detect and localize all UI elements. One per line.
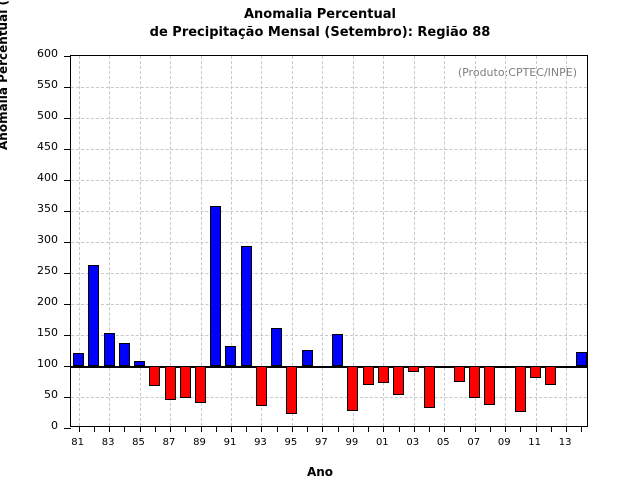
bar-negative — [454, 366, 465, 382]
x-axis-tick — [520, 426, 521, 432]
bar-negative — [393, 366, 404, 395]
gridline-vertical — [231, 56, 232, 426]
bar-positive — [88, 265, 99, 366]
bar-negative — [378, 366, 389, 383]
bar-negative — [408, 366, 419, 372]
x-axis-tick — [490, 426, 491, 432]
x-axis-tick — [246, 426, 247, 432]
bar-positive — [576, 352, 587, 366]
y-axis-tick-label: 50 — [18, 388, 58, 401]
bar-negative — [256, 366, 267, 406]
plot-area: (Produto:CPTEC/INPE) — [70, 55, 588, 427]
gridline-vertical — [566, 56, 567, 426]
bar-negative — [363, 366, 374, 385]
y-axis-tick — [64, 56, 71, 57]
x-axis-tick — [277, 426, 278, 432]
y-axis-tick-label: 200 — [18, 295, 58, 308]
y-axis-title: Anomalia Percentual (%) — [0, 0, 10, 150]
bar-negative — [165, 366, 176, 400]
gridline-vertical — [140, 56, 141, 426]
y-axis-tick-label: 150 — [18, 326, 58, 339]
gridline-vertical — [322, 56, 323, 426]
x-axis-tick-label: 09 — [489, 437, 519, 448]
x-axis-tick-label: 87 — [154, 437, 184, 448]
bar-negative — [515, 366, 526, 412]
chart-title-line1: Anomalia Percentual — [0, 6, 640, 24]
bar-positive — [210, 206, 221, 366]
x-axis-title: Ano — [0, 465, 640, 479]
gridline-horizontal — [71, 335, 587, 336]
x-axis-tick — [353, 426, 354, 432]
bar-positive — [241, 246, 252, 366]
bar-negative — [424, 366, 435, 408]
x-axis-tick — [94, 426, 95, 432]
y-axis-tick-label: 100 — [18, 357, 58, 370]
gridline-vertical — [505, 56, 506, 426]
x-axis-tick — [429, 426, 430, 432]
y-axis-tick — [64, 180, 71, 181]
bar-negative — [317, 366, 328, 368]
x-axis-tick — [140, 426, 141, 432]
x-axis-tick — [231, 426, 232, 432]
y-axis-tick-label: 0 — [18, 419, 58, 432]
chart-figure: Anomalia Percentual de Precipitação Mens… — [0, 0, 640, 500]
y-axis-tick-label: 450 — [18, 140, 58, 153]
bar-negative — [149, 366, 160, 386]
x-axis-tick-label: 89 — [185, 437, 215, 448]
y-axis-tick-label: 500 — [18, 109, 58, 122]
y-axis-tick-label: 350 — [18, 202, 58, 215]
bar-positive — [73, 353, 84, 366]
x-axis-tick — [307, 426, 308, 432]
bar-negative — [195, 366, 206, 403]
x-axis-tick — [261, 426, 262, 432]
bar-negative — [484, 366, 495, 405]
bar-positive — [134, 361, 145, 366]
gridline-horizontal — [71, 397, 587, 398]
y-axis-tick — [64, 118, 71, 119]
x-axis-tick — [414, 426, 415, 432]
y-axis-tick — [64, 428, 71, 429]
x-axis-tick-label: 07 — [459, 437, 489, 448]
x-axis-tick-label: 81 — [63, 437, 93, 448]
x-axis-tick-label: 83 — [93, 437, 123, 448]
y-axis-tick-label: 600 — [18, 47, 58, 60]
bar-negative — [500, 366, 511, 368]
y-axis-tick — [64, 335, 71, 336]
gridline-horizontal — [71, 242, 587, 243]
y-axis-tick — [64, 211, 71, 212]
y-axis-tick — [64, 149, 71, 150]
x-axis-tick-label: 97 — [306, 437, 336, 448]
bar-positive — [271, 328, 282, 366]
x-axis-tick — [292, 426, 293, 432]
x-axis-tick — [170, 426, 171, 432]
x-axis-tick — [368, 426, 369, 432]
x-axis-tick-label: 05 — [428, 437, 458, 448]
x-axis-tick-label: 01 — [367, 437, 397, 448]
bar-positive — [104, 333, 115, 366]
x-axis-tick — [399, 426, 400, 432]
gridline-vertical — [444, 56, 445, 426]
x-axis-tick-label: 91 — [215, 437, 245, 448]
bar-positive — [119, 343, 130, 366]
y-axis-tick — [64, 366, 71, 367]
bar-negative — [180, 366, 191, 398]
gridline-horizontal — [71, 180, 587, 181]
y-axis-tick — [64, 397, 71, 398]
y-axis-tick-label: 250 — [18, 264, 58, 277]
y-axis-tick-label: 400 — [18, 171, 58, 184]
x-axis-tick — [581, 426, 582, 432]
x-axis-tick-label: 11 — [520, 437, 550, 448]
y-axis-tick — [64, 242, 71, 243]
y-axis-tick-label: 300 — [18, 233, 58, 246]
x-axis-tick — [383, 426, 384, 432]
x-axis-tick — [155, 426, 156, 432]
gridline-horizontal — [71, 211, 587, 212]
x-axis-tick — [566, 426, 567, 432]
bar-positive — [332, 334, 343, 366]
y-axis-tick — [64, 304, 71, 305]
bar-negative — [347, 366, 358, 411]
y-axis-tick — [64, 87, 71, 88]
gridline-vertical — [79, 56, 80, 426]
y-axis-tick — [64, 273, 71, 274]
x-axis-tick-label: 99 — [337, 437, 367, 448]
gridline-horizontal — [71, 149, 587, 150]
bar-negative — [439, 366, 450, 368]
x-axis-tick — [475, 426, 476, 432]
x-axis-tick — [460, 426, 461, 432]
x-axis-tick — [505, 426, 506, 432]
chart-title-line2: de Precipitação Mensal (Setembro): Regiã… — [0, 24, 640, 42]
x-axis-tick-label: 03 — [398, 437, 428, 448]
bar-negative — [530, 366, 541, 378]
x-axis-tick — [79, 426, 80, 432]
x-axis-tick — [124, 426, 125, 432]
bar-positive — [225, 346, 236, 366]
x-axis-tick — [322, 426, 323, 432]
x-axis-tick-label: 95 — [276, 437, 306, 448]
chart-title: Anomalia Percentual de Precipitação Mens… — [0, 6, 640, 42]
gridline-horizontal — [71, 304, 587, 305]
x-axis-tick — [551, 426, 552, 432]
x-axis-tick — [109, 426, 110, 432]
gridline-horizontal — [71, 87, 587, 88]
x-axis-tick — [201, 426, 202, 432]
x-axis-tick-label: 93 — [245, 437, 275, 448]
x-axis-tick-label: 13 — [550, 437, 580, 448]
bar-positive — [302, 350, 313, 366]
gridline-horizontal — [71, 273, 587, 274]
bar-negative — [469, 366, 480, 398]
x-axis-tick — [444, 426, 445, 432]
bar-negative — [286, 366, 297, 414]
x-axis-tick — [216, 426, 217, 432]
x-axis-tick-label: 85 — [124, 437, 154, 448]
gridline-horizontal — [71, 118, 587, 119]
y-axis-tick-label: 550 — [18, 78, 58, 91]
x-axis-tick — [185, 426, 186, 432]
x-axis-tick — [338, 426, 339, 432]
bar-negative — [545, 366, 556, 385]
gridline-vertical — [109, 56, 110, 426]
x-axis-tick — [536, 426, 537, 432]
